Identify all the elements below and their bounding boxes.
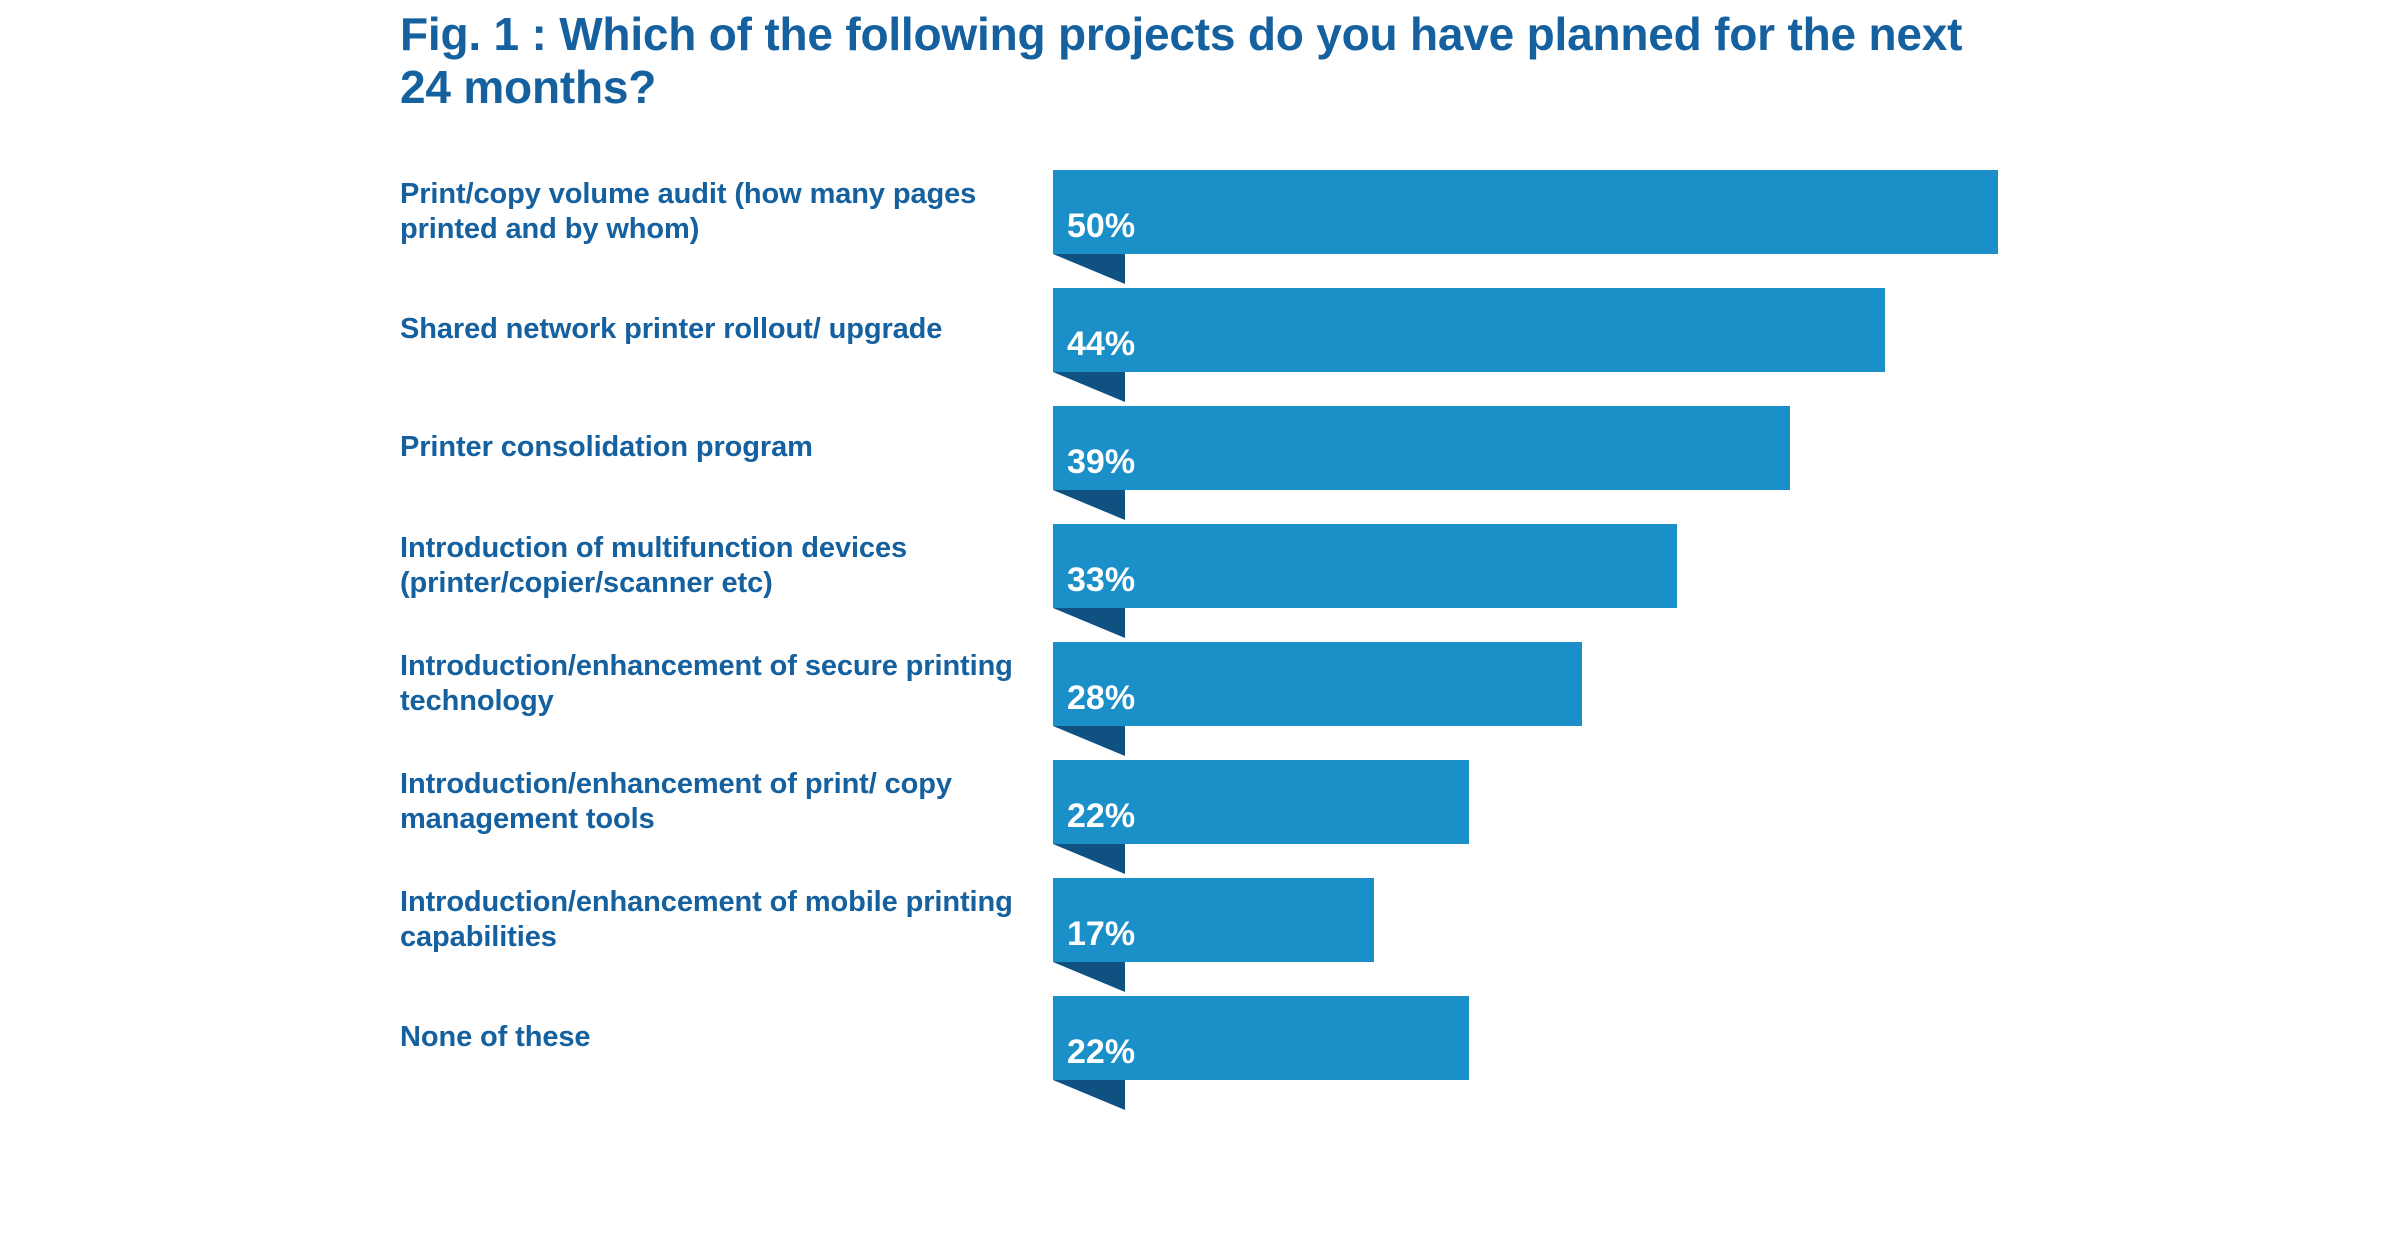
chart-bar-row: Introduction of multifunction devices (p…: [0, 524, 2400, 642]
chart-bar-row: None of these22%: [0, 996, 2400, 1114]
bar-category-label: Shared network printer rollout/ upgrade: [400, 288, 1040, 372]
bar-fold-corner-icon: [1053, 844, 1125, 874]
bar-value-label: 50%: [1067, 207, 1135, 246]
bar-fold-corner-icon: [1053, 490, 1125, 520]
bar-fold-corner-icon: [1053, 962, 1125, 992]
bar-fold-corner-icon: [1053, 372, 1125, 402]
bar-category-label: Print/copy volume audit (how many pages …: [400, 170, 1040, 254]
bar-category-label: None of these: [400, 996, 1040, 1080]
chart-bar-row: Shared network printer rollout/ upgrade4…: [0, 288, 2400, 406]
bar: 22%: [1053, 760, 1469, 844]
bar: 39%: [1053, 406, 1790, 490]
chart-plot-area: Print/copy volume audit (how many pages …: [0, 170, 2400, 1240]
bar-value-label: 28%: [1067, 679, 1135, 718]
bar-category-label: Introduction/enhancement of mobile print…: [400, 878, 1040, 962]
bar-category-label: Printer consolidation program: [400, 406, 1040, 490]
bar-category-label: Introduction/enhancement of secure print…: [400, 642, 1040, 726]
bar-fold-corner-icon: [1053, 608, 1125, 638]
bar-value-label: 39%: [1067, 443, 1135, 482]
bar-fill: [1053, 524, 1677, 608]
chart-title: Fig. 1 : Which of the following projects…: [400, 8, 2000, 115]
bar: 17%: [1053, 878, 1374, 962]
bar-value-label: 22%: [1067, 797, 1135, 836]
chart-bar-row: Printer consolidation program39%: [0, 406, 2400, 524]
bar-fold-corner-icon: [1053, 726, 1125, 756]
bar: 33%: [1053, 524, 1677, 608]
bar: 22%: [1053, 996, 1469, 1080]
bar: 44%: [1053, 288, 1885, 372]
chart-bar-row: Introduction/enhancement of print/ copy …: [0, 760, 2400, 878]
chart-bar-row: Print/copy volume audit (how many pages …: [0, 170, 2400, 288]
bar-fold-corner-icon: [1053, 254, 1125, 284]
bar-fill: [1053, 288, 1885, 372]
bar-value-label: 33%: [1067, 561, 1135, 600]
bar-category-label: Introduction of multifunction devices (p…: [400, 524, 1040, 608]
bar-category-label: Introduction/enhancement of print/ copy …: [400, 760, 1040, 844]
bar-value-label: 17%: [1067, 915, 1135, 954]
bar-fill: [1053, 170, 1998, 254]
bar-fill: [1053, 406, 1790, 490]
bar: 28%: [1053, 642, 1582, 726]
bar-value-label: 22%: [1067, 1033, 1135, 1072]
bar-fold-corner-icon: [1053, 1080, 1125, 1110]
chart-bar-row: Introduction/enhancement of secure print…: [0, 642, 2400, 760]
figure-container: Fig. 1 : Which of the following projects…: [0, 0, 2400, 1240]
bar: 50%: [1053, 170, 1998, 254]
bar-value-label: 44%: [1067, 325, 1135, 364]
chart-bar-row: Introduction/enhancement of mobile print…: [0, 878, 2400, 996]
